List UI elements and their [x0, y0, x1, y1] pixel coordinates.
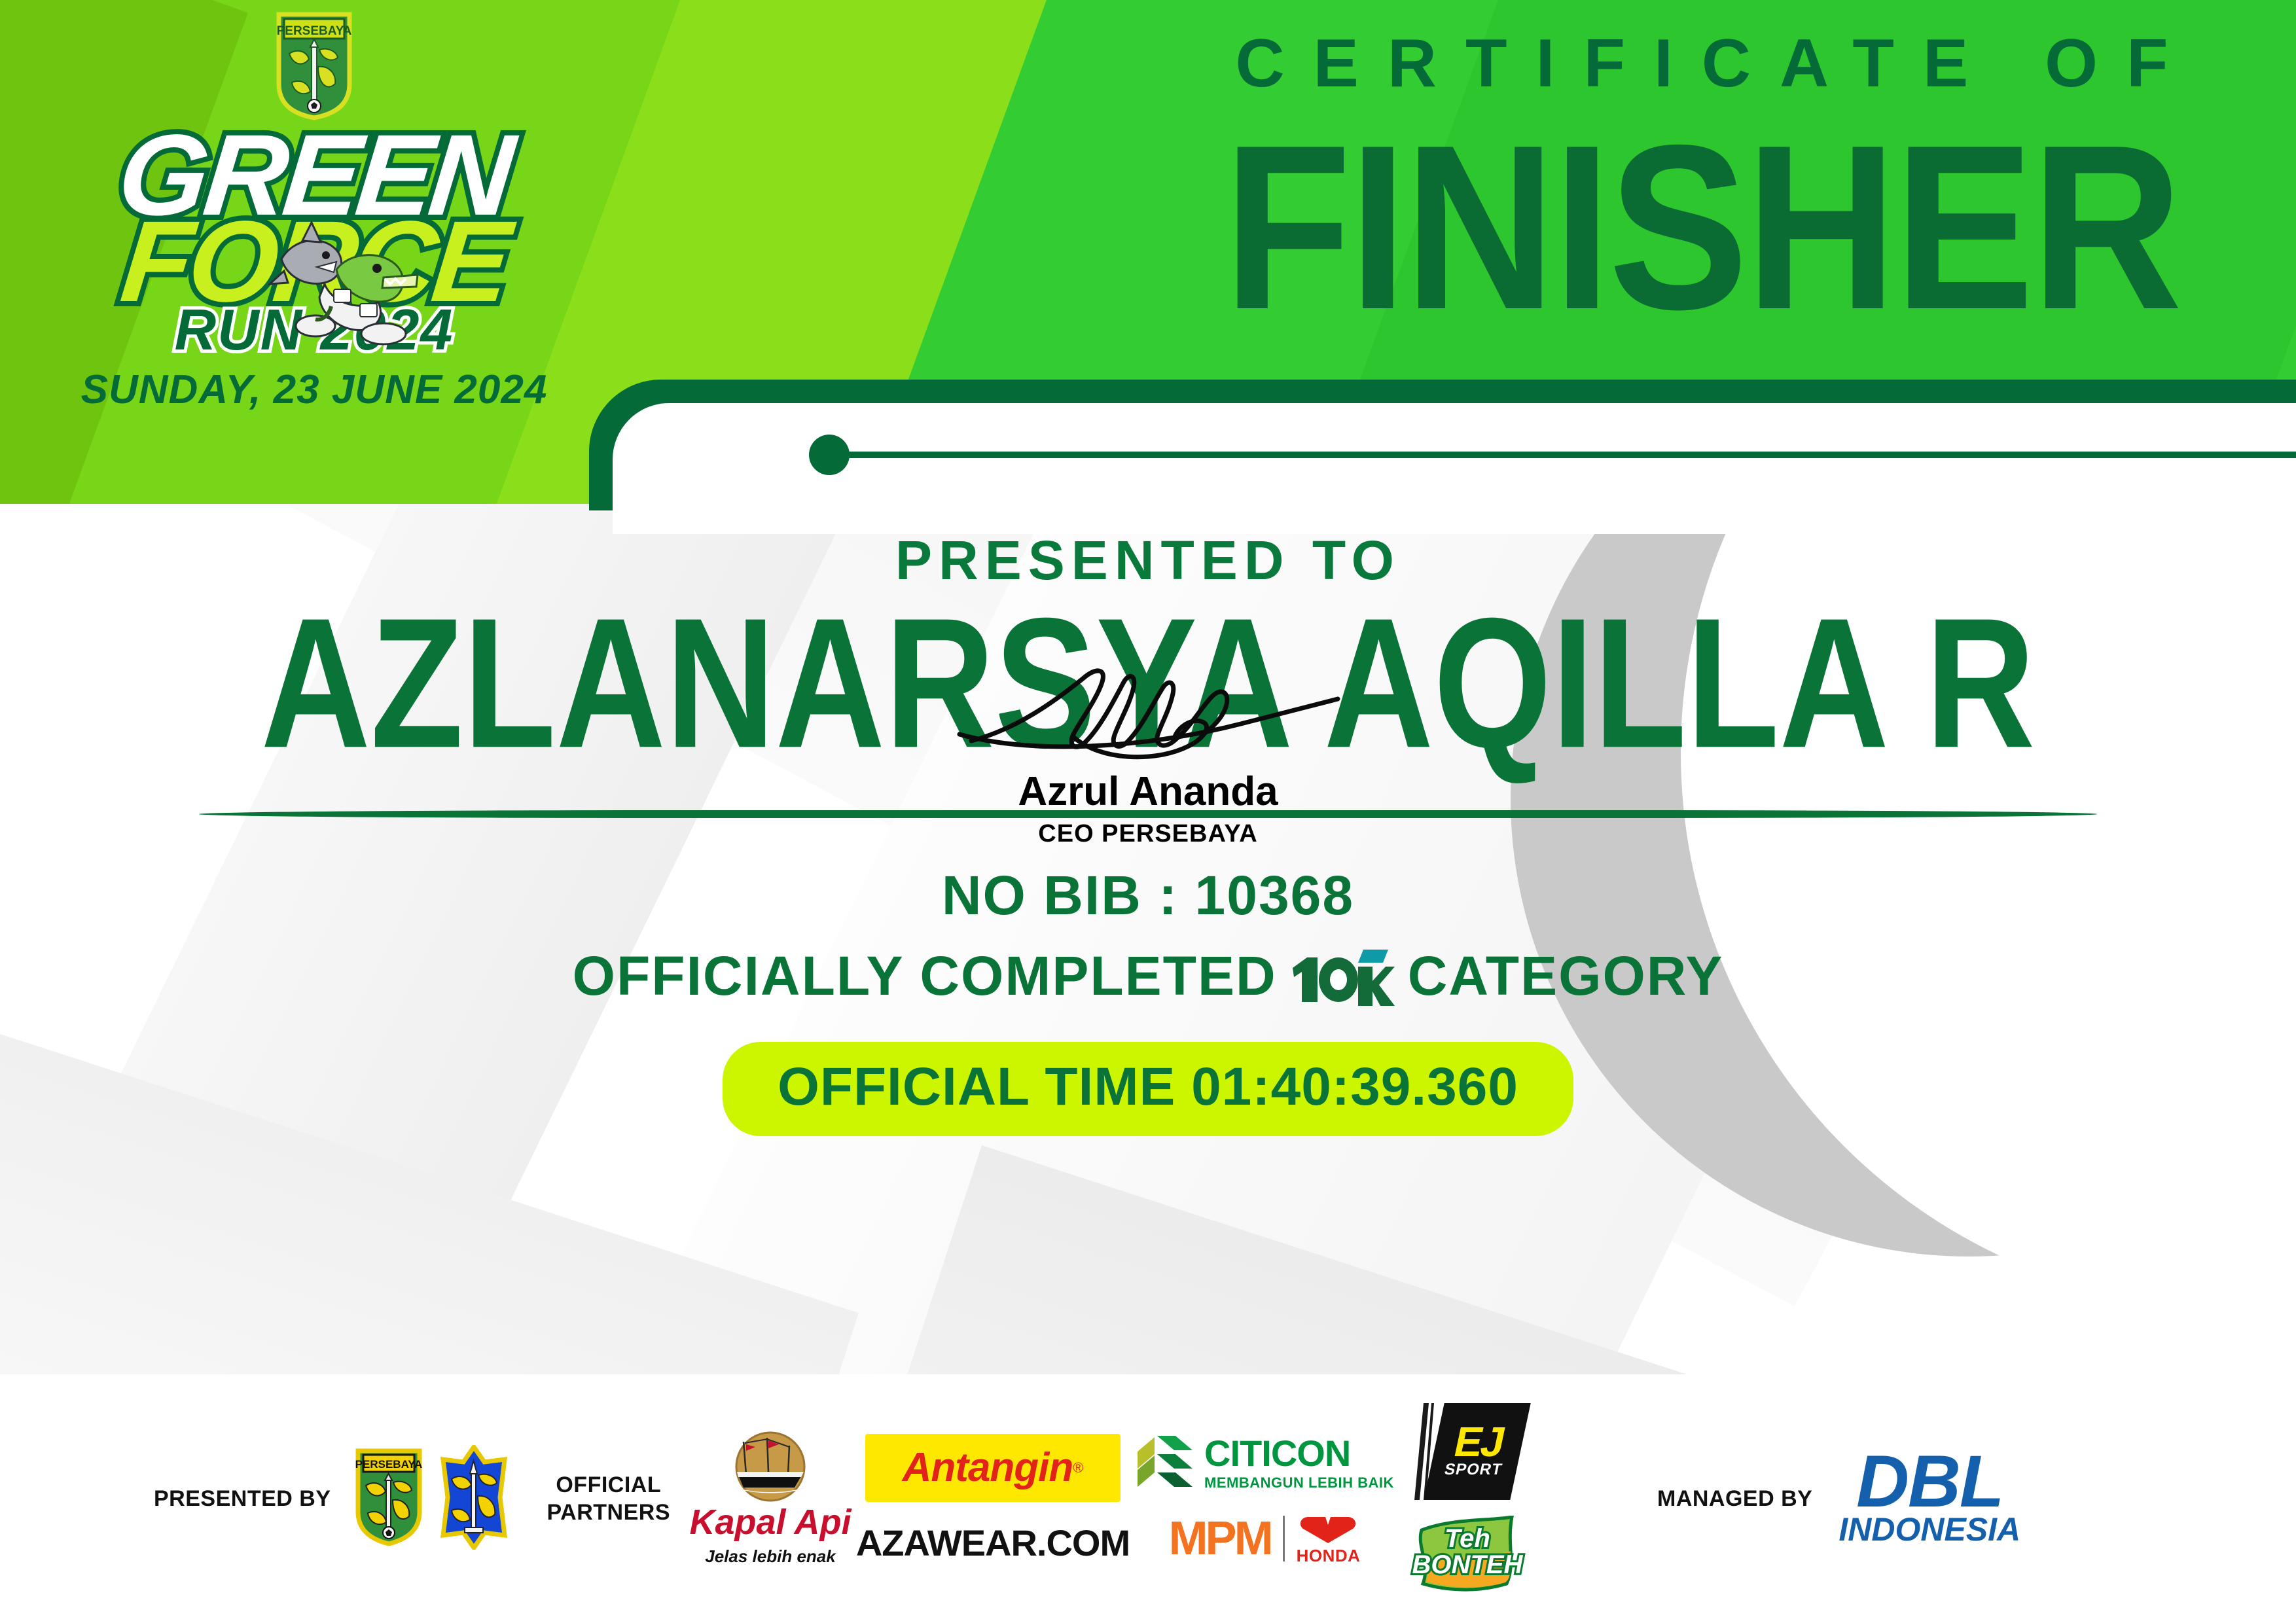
official-partners-line1: OFFICIAL — [547, 1471, 671, 1499]
certificate-title-block: CERTIFICATE OF FINISHER — [1178, 26, 2225, 312]
dbl-wordmark: DBL — [1856, 1449, 2003, 1515]
mpm-wordmark: MPM — [1169, 1515, 1271, 1562]
signatory-role: CEO PERSEBAYA — [0, 820, 2296, 848]
ej-sport-tagline: SPORT — [1443, 1461, 1504, 1479]
category-line: OFFICIALLY COMPLETED CATEGORY — [0, 944, 2296, 1008]
persebaya-footer-label: PERSEBAYA — [355, 1458, 422, 1471]
header-left-block: PERSEBAYA GREEN FORCE — [0, 0, 628, 458]
azawear-logo: AZAWEAR.COM — [856, 1522, 1130, 1564]
official-partners-label: OFFICIAL PARTNERS — [547, 1471, 671, 1527]
managed-by-label: MANAGED BY — [1657, 1485, 1812, 1513]
presented-by-group: PRESENTED BY PERSEBAYA — [154, 1445, 508, 1553]
honda-wing-icon — [1297, 1512, 1359, 1546]
official-partners-group: OFFICIAL PARTNERS Kapal Api Jelas leb — [547, 1403, 1540, 1594]
handwritten-signature-icon — [945, 661, 1351, 766]
persebaya-badge-label: PERSEBAYA — [277, 24, 352, 38]
kapal-api-logo: Kapal Api Jelas lebih enak — [689, 1431, 852, 1567]
antangin-azawear-stack: Antangin® AZAWEAR.COM — [852, 1434, 1134, 1564]
antangin-reg-mark: ® — [1073, 1459, 1083, 1476]
honda-logo: HONDA — [1297, 1512, 1361, 1566]
official-partners-line2: PARTNERS — [547, 1499, 671, 1527]
dbl-indonesia-tagline: INDONESIA — [1839, 1510, 2020, 1548]
ej-sport-logo: EJ SPORT — [1414, 1403, 1520, 1500]
finisher-title: FINISHER — [1178, 119, 2225, 335]
citicon-mark-icon — [1135, 1432, 1195, 1495]
green-force-logo: GREEN FORCE — [72, 123, 556, 339]
certificate-of-label: CERTIFICATE OF — [1178, 26, 2225, 101]
persebaya-badge-icon: PERSEBAYA — [275, 10, 353, 120]
kapal-api-tagline: Jelas lebih enak — [705, 1546, 835, 1567]
certificate-body: PRESENTED TO AZLANARSYA AQILLA R NO BIB … — [0, 504, 2296, 1374]
citicon-mpm-stack: CITICON MEMBANGUN LEBIH BAIK MPM HONDA — [1134, 1432, 1395, 1566]
teh-bonteh-logo: Teh BONTEH — [1408, 1516, 1526, 1594]
sponsor-footer: PRESENTED BY PERSEBAYA — [0, 1374, 2296, 1623]
kapal-api-wordmark: Kapal Api — [689, 1502, 851, 1543]
bib-number-line: NO BIB : 10368 — [0, 864, 2296, 927]
antangin-wordmark: Antangin — [903, 1444, 1073, 1491]
citicon-wordmark: CITICON — [1204, 1435, 1350, 1472]
official-time-text: OFFICIAL TIME 01:40:39.360 — [778, 1057, 1518, 1116]
ej-bonteh-stack: EJ SPORT Teh BONTEH — [1395, 1403, 1539, 1594]
completed-suffix-text: CATEGORY — [1408, 944, 1724, 1008]
persebaya-footer-logo: PERSEBAYA — [355, 1448, 423, 1550]
accent-dot-icon — [809, 435, 850, 475]
ej-badge: EJ SPORT — [1424, 1403, 1530, 1500]
ej-wordmark: EJ — [1451, 1424, 1507, 1460]
certificate-canvas: PERSEBAYA GREEN FORCE — [0, 0, 2296, 1623]
presented-by-label: PRESENTED BY — [154, 1485, 331, 1513]
managed-by-group: MANAGED BY DBL INDONESIA — [1657, 1449, 2020, 1549]
10k-logo-icon — [1290, 946, 1395, 1006]
mpm-honda-logo: MPM HONDA — [1169, 1512, 1361, 1566]
signature-block: Azrul Ananda CEO PERSEBAYA — [0, 661, 2296, 848]
citicon-logo: CITICON MEMBANGUN LEBIH BAIK — [1135, 1432, 1394, 1495]
official-time-badge: OFFICIAL TIME 01:40:39.360 — [723, 1042, 1573, 1136]
bonteh-wordmark: BONTEH — [1408, 1552, 1526, 1577]
header-accent-line — [831, 452, 2296, 458]
signatory-name: Azrul Ananda — [0, 768, 2296, 815]
honda-wordmark: HONDA — [1297, 1546, 1361, 1566]
dbl-indonesia-logo: DBL INDONESIA — [1839, 1449, 2020, 1549]
antangin-logo: Antangin® — [865, 1434, 1121, 1502]
citicon-tagline: MEMBANGUN LEBIH BAIK — [1204, 1474, 1394, 1491]
teh-wordmark: Teh — [1408, 1526, 1526, 1551]
mpm-divider — [1283, 1516, 1285, 1561]
kapal-api-ship-icon — [721, 1431, 819, 1502]
event-date: SUNDAY, 23 JUNE 2024 — [81, 366, 548, 413]
completed-prefix-text: OFFICIALLY COMPLETED — [573, 944, 1277, 1008]
surabaya-footer-logo — [440, 1445, 508, 1553]
shark-crocodile-mascot-icon — [268, 221, 419, 352]
